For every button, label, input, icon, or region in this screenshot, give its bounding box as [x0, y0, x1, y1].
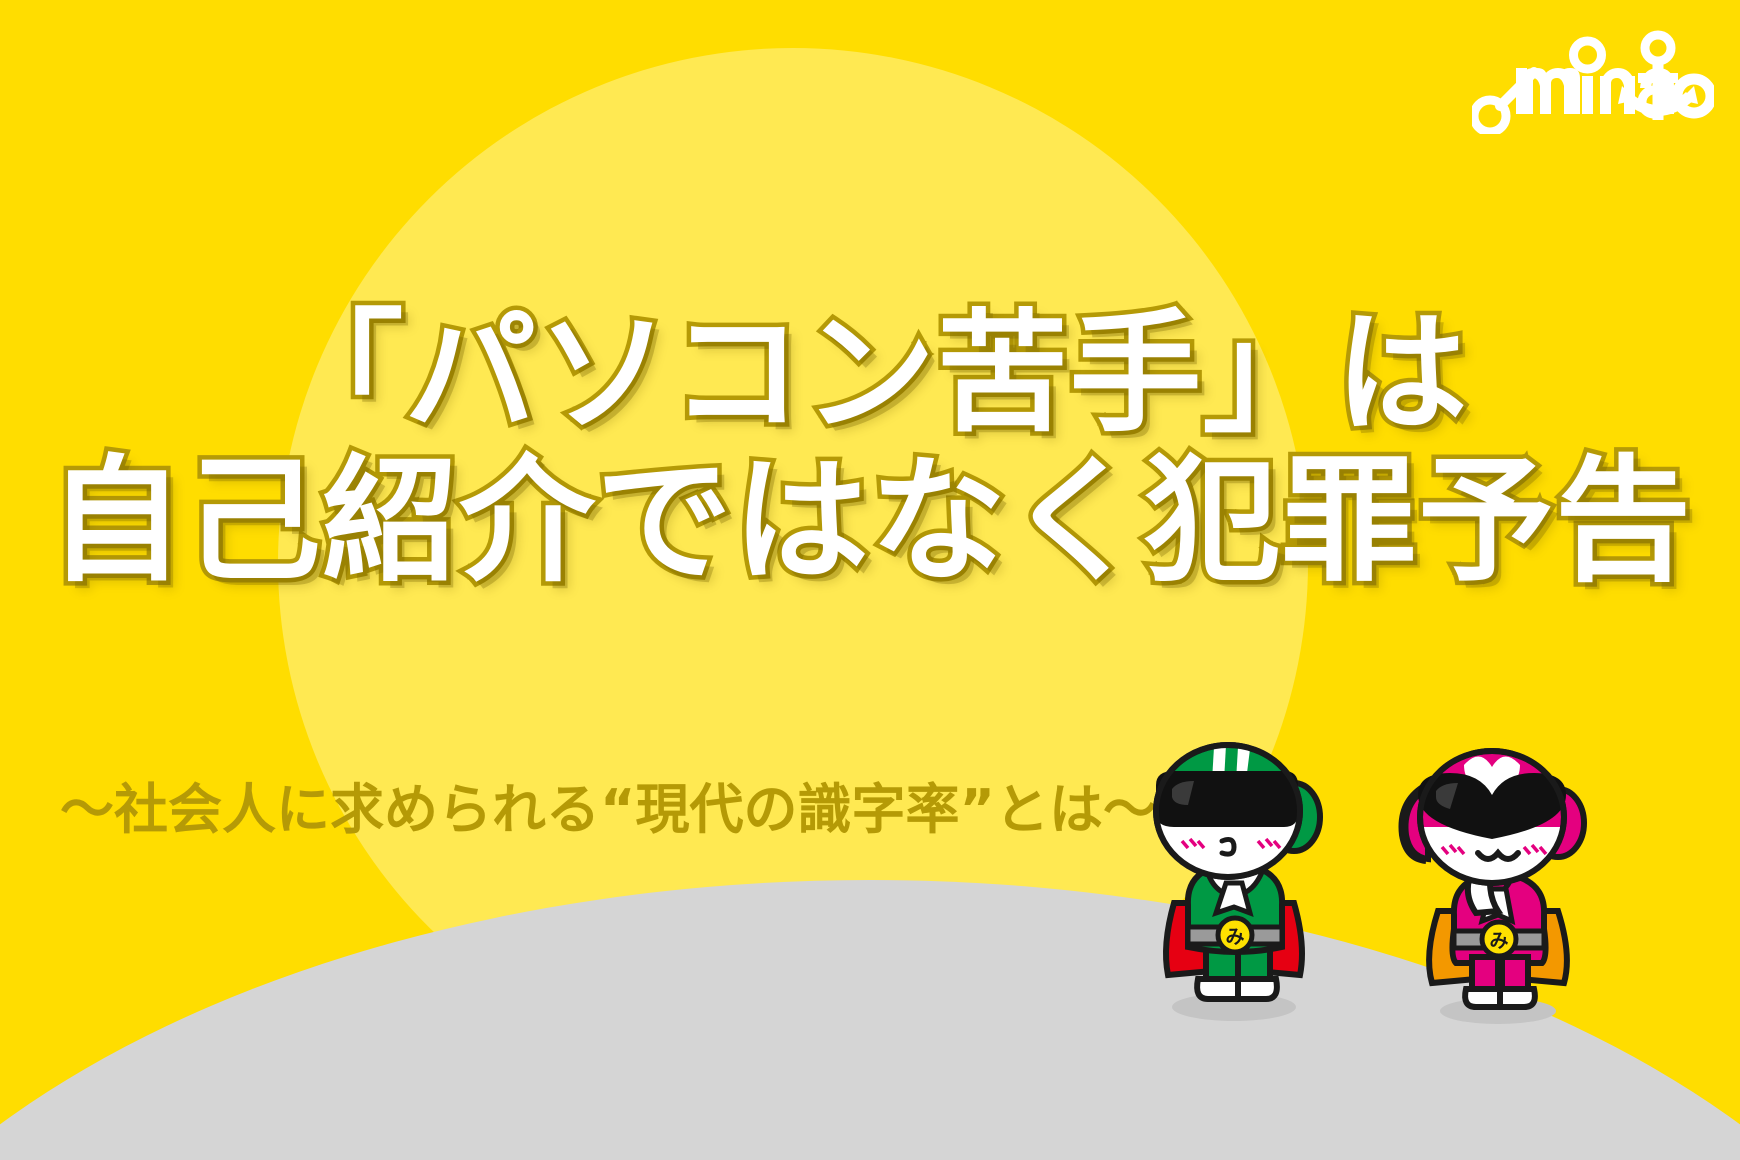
banner-canvas: 「パソコン苦手」は 自己紹介ではなく犯罪予告 〜社会人に求められる“現代の識字率…	[0, 0, 1740, 1160]
svg-text:み: み	[1225, 926, 1244, 948]
title-line-2: 自己紹介ではなく犯罪予告	[0, 448, 1740, 596]
green-ranger-mascot: み	[1116, 735, 1366, 1035]
minato-logo[interactable]	[1472, 26, 1714, 134]
title-line-1: 「パソコン苦手」は	[0, 300, 1740, 448]
title-block: 「パソコン苦手」は 自己紹介ではなく犯罪予告	[0, 300, 1740, 596]
svg-text:み: み	[1489, 930, 1508, 952]
mascot-group: み	[1100, 735, 1740, 1065]
subtitle: 〜社会人に求められる“現代の識字率”とは〜	[60, 778, 1157, 842]
pink-ranger-mascot: み	[1380, 743, 1630, 1043]
